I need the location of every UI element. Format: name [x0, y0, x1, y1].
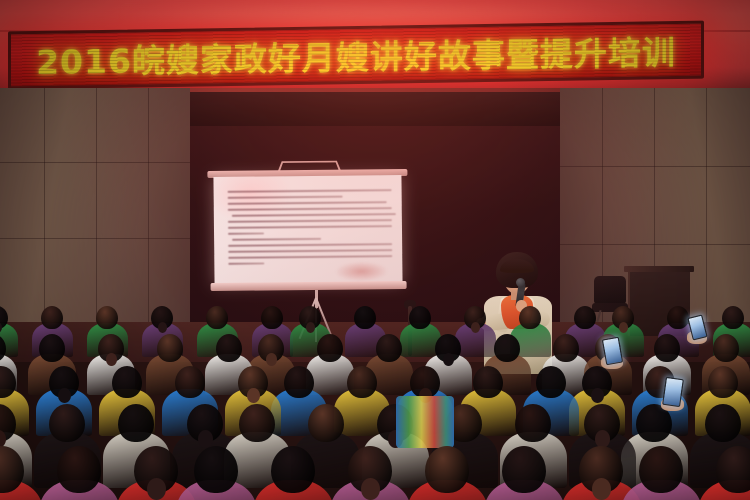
audience-member-head [376, 334, 402, 362]
audience-member-head [118, 404, 154, 442]
audience-member-head [41, 306, 63, 329]
audience-member-head [216, 334, 242, 362]
audience-member-head [654, 334, 680, 362]
audience-member-head [667, 306, 689, 329]
slide-text-line [228, 207, 392, 211]
audience-member-head [239, 404, 275, 442]
projection-screen [207, 159, 408, 301]
slide-text-line [228, 201, 387, 205]
audience-member-head [261, 306, 283, 329]
audience-member-ponytail [58, 388, 71, 403]
audience-member-ponytail [443, 353, 454, 366]
slide-text-block [228, 189, 393, 269]
slide-text-line [228, 249, 392, 253]
audience-member-head [425, 446, 469, 493]
slide-text-line [232, 213, 396, 217]
audience-member-ponytail [471, 322, 480, 333]
audience-member-head [49, 404, 85, 442]
audience-member-ponytail [147, 478, 165, 500]
audience-member-head [284, 366, 314, 398]
slide-text-line [228, 243, 392, 247]
slide-text-line [228, 219, 392, 223]
audience-crowd [0, 300, 750, 500]
microphone-head [516, 278, 525, 287]
audience-member-head [175, 366, 205, 398]
audience-member-ponytail [592, 478, 610, 500]
audience-member-head [57, 446, 101, 493]
audience-member-head [317, 334, 343, 362]
led-banner: 2016皖嫂家政好月嫂讲好故事暨提升培训 [8, 21, 704, 90]
audience-member-ponytail [361, 478, 379, 500]
screen-canvas [213, 175, 402, 285]
slide-text-line [228, 262, 264, 264]
audience-member-head [574, 306, 596, 329]
audience-member-ponytail [306, 322, 315, 333]
audience-member-head [354, 306, 376, 329]
patterned-backpack [396, 396, 454, 448]
photo-scene: 2016皖嫂家政好月嫂讲好故事暨提升培训 [0, 0, 750, 500]
audience-member-head [716, 446, 750, 493]
audience-member-head [502, 446, 546, 493]
audience-member-head [347, 366, 377, 398]
smartphone-screen [662, 377, 684, 407]
slide-text-line [228, 189, 392, 193]
slide-text-line [228, 196, 343, 199]
audience-member-head [157, 334, 183, 362]
audience-member-head [112, 366, 142, 398]
audience-member-head [515, 404, 551, 442]
audience-member-ponytail [247, 388, 260, 403]
led-banner-text: 2016皖嫂家政好月嫂讲好故事暨提升培训 [36, 26, 676, 84]
screen-bottom-bar [211, 281, 407, 291]
audience-member-head [473, 366, 503, 398]
audience-member-head [705, 404, 741, 442]
audience-member-head [409, 306, 431, 329]
audience-member-head [271, 446, 315, 493]
audience-member-head [96, 306, 118, 329]
slide-image-blob [334, 261, 388, 282]
audience-member-head [713, 334, 739, 362]
slide-text-line [228, 255, 392, 259]
audience-member-ponytail [591, 388, 604, 403]
audience-member-ponytail [266, 353, 277, 366]
audience-member-ponytail [106, 353, 117, 366]
audience-member-head [206, 306, 228, 329]
slide-text-line [232, 238, 321, 241]
audience-member-head [708, 366, 738, 398]
audience-member-head [308, 404, 344, 442]
audience-member-head [536, 366, 566, 398]
audience-member-head [722, 306, 744, 329]
audience-member-head [194, 446, 238, 493]
audience-member-ponytail [158, 322, 167, 333]
audience-member-head [494, 334, 520, 362]
slide-text-line [228, 232, 264, 234]
audience-member-head [639, 446, 683, 493]
slide-text-line [228, 225, 392, 229]
lectern-top [624, 266, 694, 272]
audience-member-ponytail [619, 322, 628, 333]
audience-member-head [39, 334, 65, 362]
audience-member-head [519, 306, 541, 329]
led-banner-inner: 2016皖嫂家政好月嫂讲好故事暨提升培训 [11, 24, 701, 87]
audience-member-ponytail [198, 430, 213, 448]
audience-member-head [553, 334, 579, 362]
